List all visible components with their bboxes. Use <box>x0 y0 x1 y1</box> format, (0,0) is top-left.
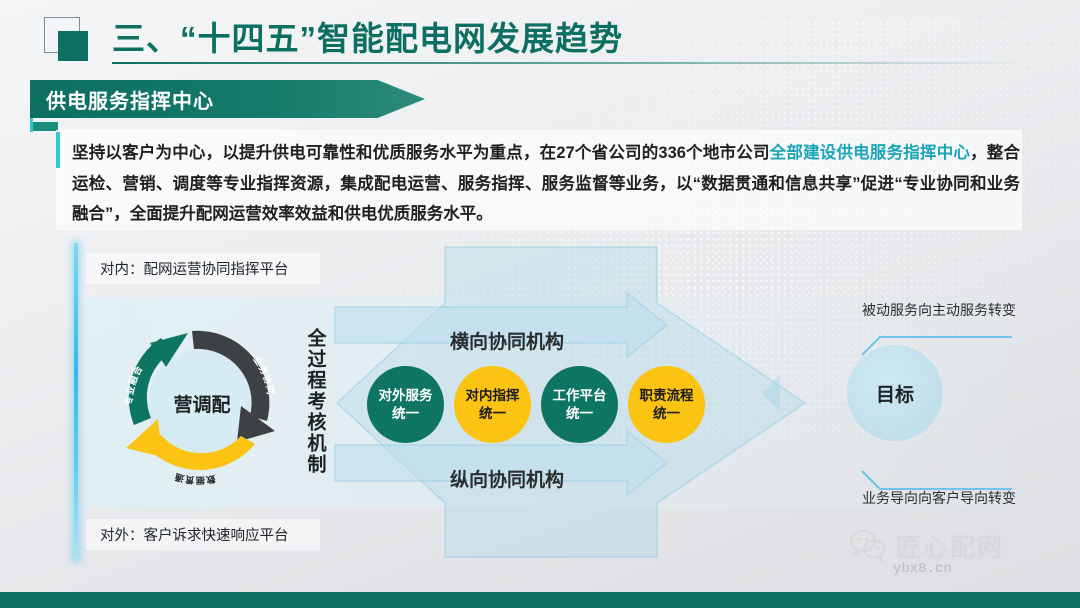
unify-circle-line1: 对外服务 <box>379 387 433 405</box>
title-divider <box>112 62 1022 64</box>
logo-filled-square <box>58 31 88 61</box>
diagram-caption-internal: 对内：配网运营协同指挥平台 <box>86 253 320 284</box>
cycle-wheel: 专业融合 业务协同 数据贯通 营调配 <box>104 305 300 501</box>
connector-arrow-in <box>762 375 780 411</box>
paragraph-segment-1: 坚持以客户为中心，以提升供电可靠性和优质服务水平为重点，在27个省公司的336个… <box>72 144 770 162</box>
wheel-center-label: 营调配 <box>104 305 300 501</box>
unify-circle-line1: 职责流程 <box>640 387 694 405</box>
arrow-label-horizontal: 横向协同机构 <box>450 327 564 354</box>
unify-circle-group: 对外服务 统一 对内指挥 统一 工作平台 统一 职责流程 统一 <box>367 366 727 446</box>
unify-circle-work-platform: 工作平台 统一 <box>541 366 618 443</box>
unify-circle-line2: 统一 <box>566 405 593 423</box>
unify-circle-line2: 统一 <box>479 405 506 423</box>
target-node-label: 目标 <box>876 380 914 407</box>
diagram-caption-external: 对外：客户诉求快速响应平台 <box>86 519 320 550</box>
connector-bottom <box>862 471 1012 489</box>
goal-label-top: 被动服务向主动服务转变 <box>862 300 1016 320</box>
assessment-mechanism-label: 全过程考核机制 <box>300 309 330 494</box>
slide-logo-mark <box>44 17 88 61</box>
watermark: 匠心配网 ybx8.cn <box>849 528 1064 586</box>
target-node: 目标 <box>847 345 943 441</box>
paragraph-highlight: 全部建设供电服务指挥中心 <box>770 144 970 162</box>
unify-circle-internal-command: 对内指挥 统一 <box>454 366 531 443</box>
unify-circle-external-service: 对外服务 统一 <box>367 366 444 443</box>
wechat-icon <box>849 529 889 563</box>
paragraph-accent-bar <box>56 132 60 168</box>
paragraph-text: 坚持以客户为中心，以提升供电可靠性和优质服务水平为重点，在27个省公司的336个… <box>72 138 1020 230</box>
unify-circle-line2: 统一 <box>653 405 680 423</box>
footer-bar <box>0 592 1080 608</box>
diagram-panel: 对内：配网运营协同指挥平台 对外：客户诉求快速响应平台 <box>72 243 1022 561</box>
section-banner-label: 供电服务指挥中心 <box>30 85 214 114</box>
banner-tick-accent <box>30 118 33 132</box>
unify-circle-line1: 对内指挥 <box>466 387 520 405</box>
arrow-label-vertical: 纵向协同机构 <box>450 465 564 492</box>
banner-tick-block <box>30 122 58 131</box>
unify-circle-line2: 统一 <box>392 405 419 423</box>
section-banner: 供电服务指挥中心 <box>30 80 425 118</box>
goal-label-bottom: 业务导向向客户导向转变 <box>862 488 1016 508</box>
watermark-name: 匠心配网 <box>896 528 1004 564</box>
page-title: 三、“十四五”智能配电网发展趋势 <box>112 12 623 60</box>
unify-circle-duty-process: 职责流程 统一 <box>628 366 705 443</box>
unify-circle-line1: 工作平台 <box>553 387 607 405</box>
diagram-accent-bar <box>74 243 78 561</box>
